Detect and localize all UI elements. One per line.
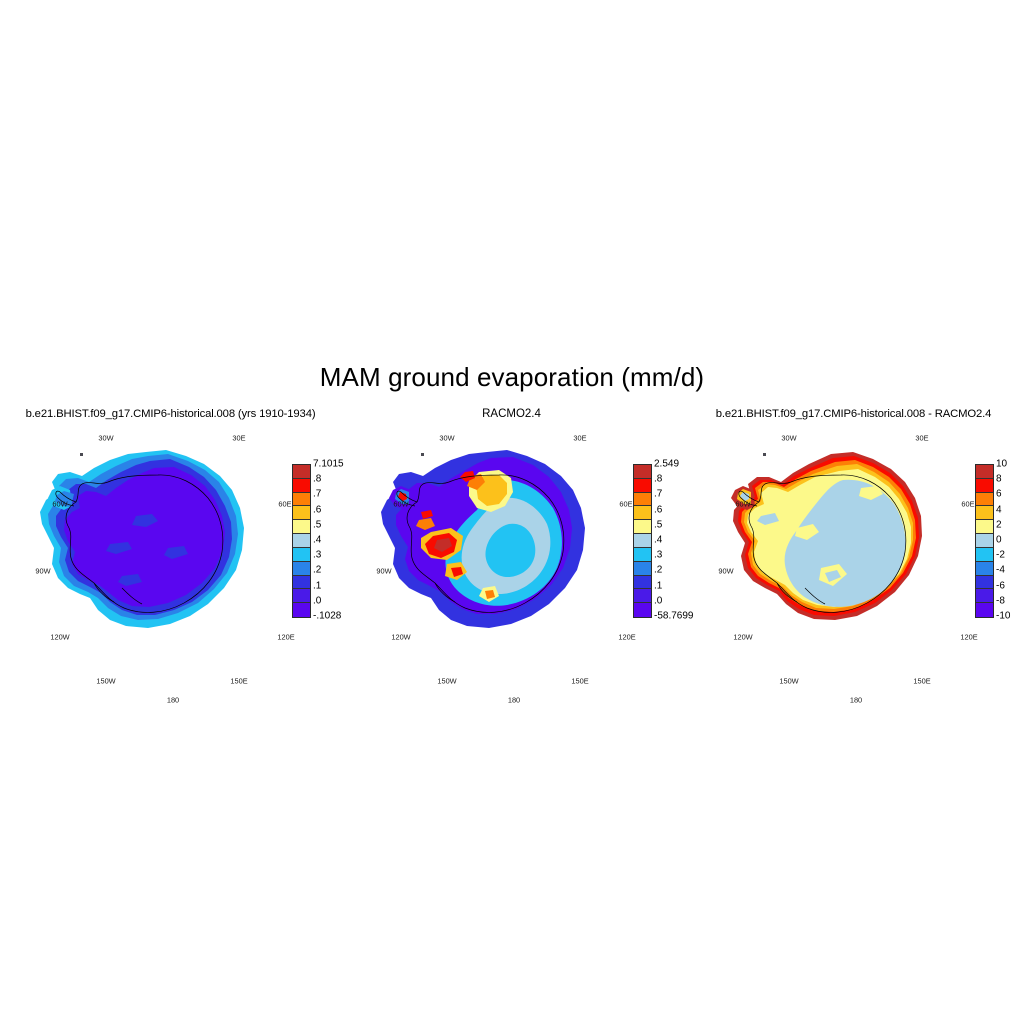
panel-title: b.e21.BHIST.f09_g17.CMIP6-historical.008… <box>683 408 1024 420</box>
colorbar-swatch <box>976 548 993 562</box>
colorbar-swatch <box>293 562 310 576</box>
colorbar-tick: 8 <box>996 474 1002 485</box>
colorbar-tick: .4 <box>654 535 662 546</box>
colorbar-tick-labels: 10 8 6 4 2 0 -2 -4 -6 -8 -10 <box>996 464 1024 616</box>
lon-label: 90W <box>718 567 733 576</box>
panel-difference: b.e21.BHIST.f09_g17.CMIP6-historical.008… <box>683 408 1024 688</box>
lon-label: 90W <box>376 567 391 576</box>
figure-canvas: MAM ground evaporation (mm/d) b.e21.BHIS… <box>0 0 1024 1024</box>
colorbar-swatch <box>976 603 993 617</box>
panel-title: RACMO2.4 <box>341 408 682 420</box>
colorbar-swatch <box>293 534 310 548</box>
colorbar-swatch <box>634 465 651 479</box>
colorbar-swatch <box>634 520 651 534</box>
lon-label: 60W <box>735 500 750 509</box>
colorbar-swatch <box>634 589 651 603</box>
map-area[interactable]: 30W 30E 60W 60E 90W 90E 120W 120E 150W 1… <box>18 428 268 678</box>
colorbar-swatch <box>634 548 651 562</box>
colorbar-tick: .7 <box>654 489 662 500</box>
colorbar-tick: -6 <box>996 580 1005 591</box>
colorbar-swatch <box>976 534 993 548</box>
lon-label: 90W <box>35 567 50 576</box>
colorbar-swatch <box>634 506 651 520</box>
colorbar-tick: -.1028 <box>313 611 341 622</box>
colorbar-swatch <box>293 479 310 493</box>
colorbar-tick: -10 <box>996 611 1010 622</box>
colorbar-tick: -4 <box>996 565 1005 576</box>
panel-cesm-historical: b.e21.BHIST.f09_g17.CMIP6-historical.008… <box>0 408 341 688</box>
colorbar-tick: 2 <box>996 519 1002 530</box>
colorbar-tick: .1 <box>313 580 321 591</box>
colorbar-tick: .3 <box>654 550 662 561</box>
colorbar-swatch <box>293 506 310 520</box>
colorbar-tick: .1 <box>654 580 662 591</box>
colorbar[interactable] <box>292 464 311 618</box>
colorbar-tick: .8 <box>654 474 662 485</box>
colorbar-swatch <box>293 520 310 534</box>
lon-label: 30E <box>915 434 928 443</box>
colorbar-tick: .0 <box>313 595 321 606</box>
lon-label: 30W <box>439 434 454 443</box>
colorbar-tick: 0 <box>996 535 1002 546</box>
lon-label: 150E <box>913 677 930 686</box>
colorbar-swatch <box>293 548 310 562</box>
lon-label: 120W <box>391 633 410 642</box>
colorbar-swatch <box>976 479 993 493</box>
lon-label: 60W <box>393 500 408 509</box>
map-area[interactable]: 30W 30E 60W 60E 90W 90E 120W 120E 150W 1… <box>359 428 609 678</box>
colorbar-swatch <box>634 576 651 590</box>
lon-label: 180 <box>850 696 862 705</box>
figure-title: MAM ground evaporation (mm/d) <box>0 362 1024 393</box>
colorbar[interactable] <box>975 464 994 618</box>
lon-label: 30W <box>781 434 796 443</box>
map-fill-layer <box>731 452 922 620</box>
lon-label: 150W <box>779 677 798 686</box>
lon-label: 30W <box>98 434 113 443</box>
colorbar-swatch <box>634 562 651 576</box>
lon-label: 120W <box>733 633 752 642</box>
panel-racmo: RACMO2.4 <box>341 408 682 688</box>
colorbar-tick: .6 <box>313 504 321 515</box>
colorbar-tick: 10 <box>996 459 1007 470</box>
lon-label: 150W <box>96 677 115 686</box>
lon-label: 30E <box>232 434 245 443</box>
lon-label: 150W <box>437 677 456 686</box>
colorbar-tick: .2 <box>313 565 321 576</box>
colorbar-swatch <box>976 576 993 590</box>
lon-label: 120W <box>50 633 69 642</box>
colorbar-tick: 6 <box>996 489 1002 500</box>
lon-label: 60E <box>278 500 291 509</box>
lon-label: 60W <box>52 500 67 509</box>
colorbar-tick: 2.549 <box>654 459 679 470</box>
colorbar-swatch <box>634 603 651 617</box>
colorbar-tick: .0 <box>654 595 662 606</box>
lon-label: 120E <box>618 633 635 642</box>
map-area[interactable]: 30W 30E 60W 60E 90W 90E 120W 120E 150W 1… <box>701 428 951 678</box>
lon-label: 60E <box>619 500 632 509</box>
lon-label: 120E <box>277 633 294 642</box>
colorbar-swatch <box>293 493 310 507</box>
lon-label: 120E <box>960 633 977 642</box>
colorbar-swatch <box>293 589 310 603</box>
colorbar-swatch <box>976 562 993 576</box>
colorbar-tick: .5 <box>654 519 662 530</box>
colorbar-swatch <box>293 576 310 590</box>
colorbar-swatch <box>293 603 310 617</box>
colorbar-tick: -8 <box>996 595 1005 606</box>
colorbar-tick: .8 <box>313 474 321 485</box>
colorbar-swatch <box>976 493 993 507</box>
lon-label: 150E <box>571 677 588 686</box>
colorbar-tick: .5 <box>313 519 321 530</box>
lon-label: 30E <box>573 434 586 443</box>
colorbar-tick: 4 <box>996 504 1002 515</box>
colorbar-tick: 7.1015 <box>313 459 344 470</box>
colorbar-tick: -2 <box>996 550 1005 561</box>
colorbar-swatch <box>976 465 993 479</box>
colorbar-tick: .3 <box>313 550 321 561</box>
lon-label: 180 <box>167 696 179 705</box>
colorbar-swatch <box>634 534 651 548</box>
colorbar-tick: .7 <box>313 489 321 500</box>
colorbar-tick: .6 <box>654 504 662 515</box>
colorbar-swatch <box>293 465 310 479</box>
lon-label: 180 <box>508 696 520 705</box>
colorbar-swatch <box>634 479 651 493</box>
colorbar[interactable] <box>633 464 652 618</box>
colorbar-swatch <box>634 493 651 507</box>
colorbar-swatch <box>976 520 993 534</box>
colorbar-tick: .2 <box>654 565 662 576</box>
panel-title: b.e21.BHIST.f09_g17.CMIP6-historical.008… <box>0 408 341 420</box>
colorbar-tick: .4 <box>313 535 321 546</box>
lon-label: 150E <box>230 677 247 686</box>
colorbar-swatch <box>976 589 993 603</box>
colorbar-swatch <box>976 506 993 520</box>
lon-label: 60E <box>961 500 974 509</box>
